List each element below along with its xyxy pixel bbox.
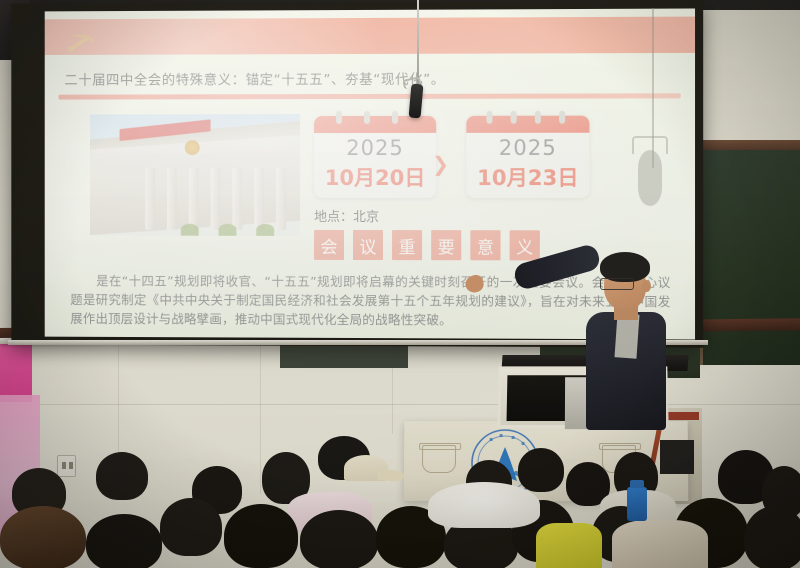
calendar-year: 2025 xyxy=(466,136,589,160)
presenter xyxy=(560,248,690,428)
party-emblem-icon xyxy=(66,30,99,56)
audience-head xyxy=(0,506,86,568)
audience-head xyxy=(224,504,298,568)
glasses-icon xyxy=(600,278,634,290)
water-bottle-cap xyxy=(630,480,644,488)
audience-head xyxy=(86,514,162,568)
chalkboard xyxy=(700,150,800,365)
audience-head xyxy=(300,510,378,568)
slide-header-band xyxy=(45,17,695,55)
slide-title: 二十届四中全会的特殊意义：锚定“十五五”、夯基“现代化”。 xyxy=(64,68,445,89)
svg-text:▪: ▪ xyxy=(489,436,493,443)
great-hall-photo xyxy=(90,114,300,236)
meeting-place: 地点：北京 xyxy=(314,206,379,225)
keyword-box: 意 xyxy=(470,230,500,260)
calendar-year: 2025 xyxy=(314,136,436,160)
calendar-card-end: 2025 10月23日 xyxy=(466,116,589,199)
ceiling-speaker-icon xyxy=(638,150,662,206)
wall-outlet xyxy=(57,455,76,477)
yellow-jacket xyxy=(536,523,602,568)
photo-national-emblem-icon xyxy=(185,140,200,155)
calendar-card-start: 2025 10月20日 xyxy=(314,116,436,198)
audience-head xyxy=(160,498,222,556)
presenter-ear xyxy=(642,280,651,292)
audience-head xyxy=(518,448,564,492)
audience-head xyxy=(744,506,800,568)
keyword-box: 会 xyxy=(314,230,344,260)
beige-puffer-jacket xyxy=(612,520,708,568)
keyword-box: 义 xyxy=(510,230,540,260)
arrow-icon: ❯ xyxy=(432,152,449,177)
keyword-box: 议 xyxy=(353,230,383,260)
svg-text:▪: ▪ xyxy=(499,432,503,439)
keyword-box: 要 xyxy=(431,230,461,260)
calendar-card-header xyxy=(466,116,589,133)
calendar-date: 10月23日 xyxy=(466,162,589,192)
svg-text:▪: ▪ xyxy=(521,440,525,447)
calendar-card-header xyxy=(314,116,436,133)
water-bottle xyxy=(627,487,647,521)
audience-head xyxy=(96,452,148,500)
urn-outline-icon xyxy=(422,445,456,473)
calendar-date: 10月20日 xyxy=(314,162,436,192)
microphone-cable xyxy=(417,0,419,88)
keyword-box: 重 xyxy=(392,230,422,260)
podium-cabinet-opening xyxy=(660,440,694,474)
presenter-shirt xyxy=(614,313,639,358)
keyword-boxes: 会 议 重 要 意 义 xyxy=(314,230,540,260)
lecture-hall-scene: 二十届四中全会的特殊意义：锚定“十五五”、夯基“现代化”。 xyxy=(0,0,800,568)
title-divider xyxy=(58,93,680,99)
fur-collar-coat xyxy=(428,482,540,528)
svg-text:▪: ▪ xyxy=(511,434,515,441)
wall-seam-vertical xyxy=(260,344,261,494)
